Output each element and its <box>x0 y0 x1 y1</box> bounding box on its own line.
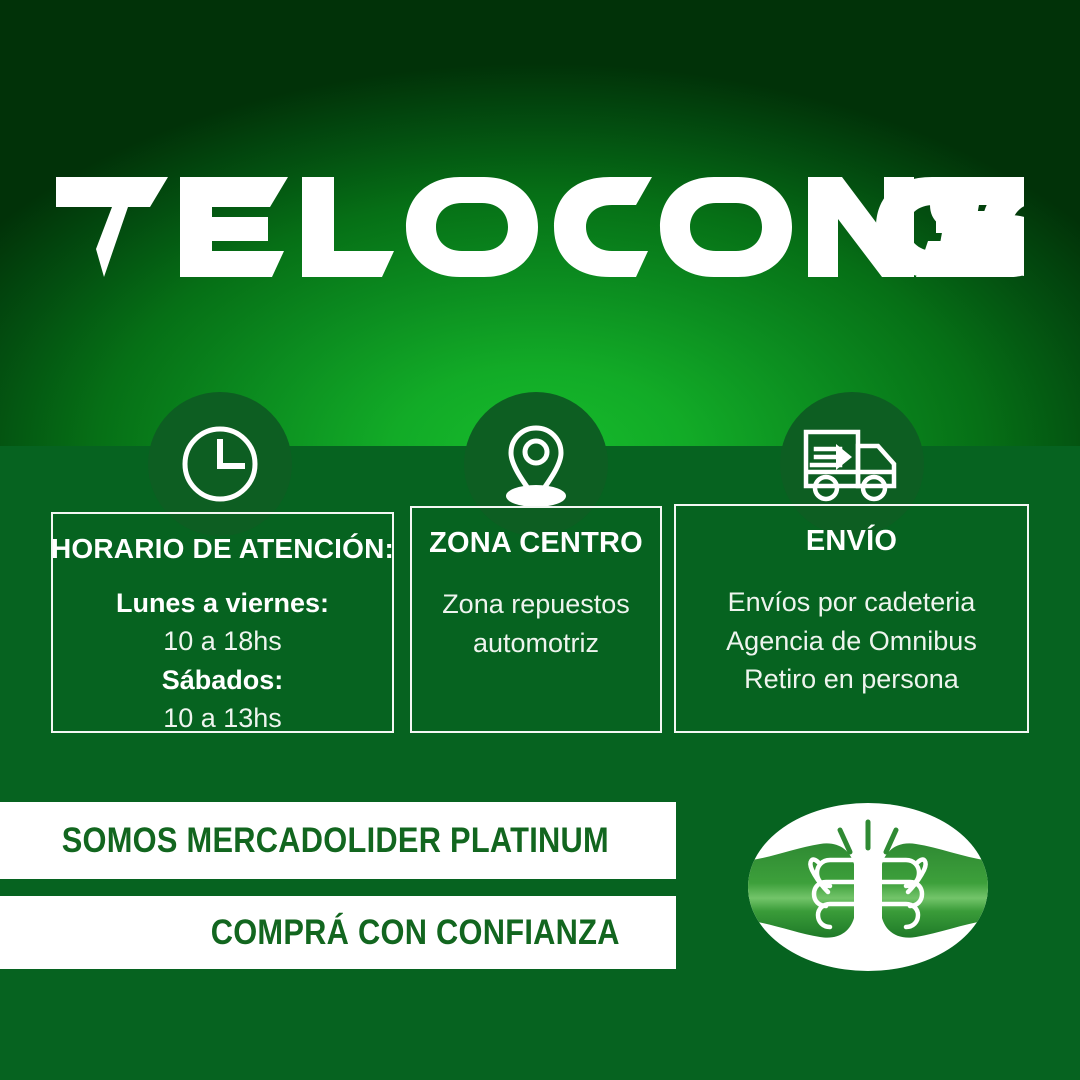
fist-bump-icon <box>746 800 990 974</box>
feature-card-line: 10 a 18hs <box>163 622 282 660</box>
feature-card-title: ZONA CENTRO <box>429 526 643 561</box>
brand-logo <box>0 168 1080 286</box>
banner-label: SOMOS MERCADOLIDER PLATINUM <box>41 821 636 861</box>
feature-card-horario: HORARIO DE ATENCIÓN: Lunes a viernes: 10… <box>51 512 394 733</box>
brand-logo-wordmark <box>56 177 1024 277</box>
feature-card-line: Retiro en persona <box>744 660 959 698</box>
feature-card-body: Lunes a viernes: 10 a 18hs Sábados: 10 a… <box>53 584 392 737</box>
banner-label: COMPRÁ CON CONFIANZA <box>211 913 646 953</box>
promo-banner-canvas: HORARIO DE ATENCIÓN: Lunes a viernes: 10… <box>0 0 1080 1080</box>
feature-card-line: Envíos por cadeteria <box>728 583 976 621</box>
feature-card-line: automotriz <box>473 624 599 662</box>
feature-card-body: Zona repuestos automotriz <box>412 585 660 662</box>
feature-card-line: Lunes a viernes: <box>116 584 329 622</box>
feature-card-title: HORARIO DE ATENCIÓN: <box>51 532 394 566</box>
feature-card-zona: ZONA CENTRO Zona repuestos automotriz <box>410 506 662 733</box>
feature-card-envio: ENVÍO Envíos por cadeteria Agencia de Om… <box>674 504 1029 733</box>
banner-compra-con-confianza: COMPRÁ CON CONFIANZA <box>0 896 676 969</box>
feature-card-line: Sábados: <box>162 661 284 699</box>
feature-card-title: ENVÍO <box>806 524 897 559</box>
feature-card-body: Envíos por cadeteria Agencia de Omnibus … <box>676 583 1027 698</box>
feature-card-line: 10 a 13hs <box>163 699 282 737</box>
feature-card-line: Zona repuestos <box>442 585 630 623</box>
feature-card-line: Agencia de Omnibus <box>726 622 977 660</box>
banner-mercadolider-platinum: SOMOS MERCADOLIDER PLATINUM <box>0 802 676 879</box>
